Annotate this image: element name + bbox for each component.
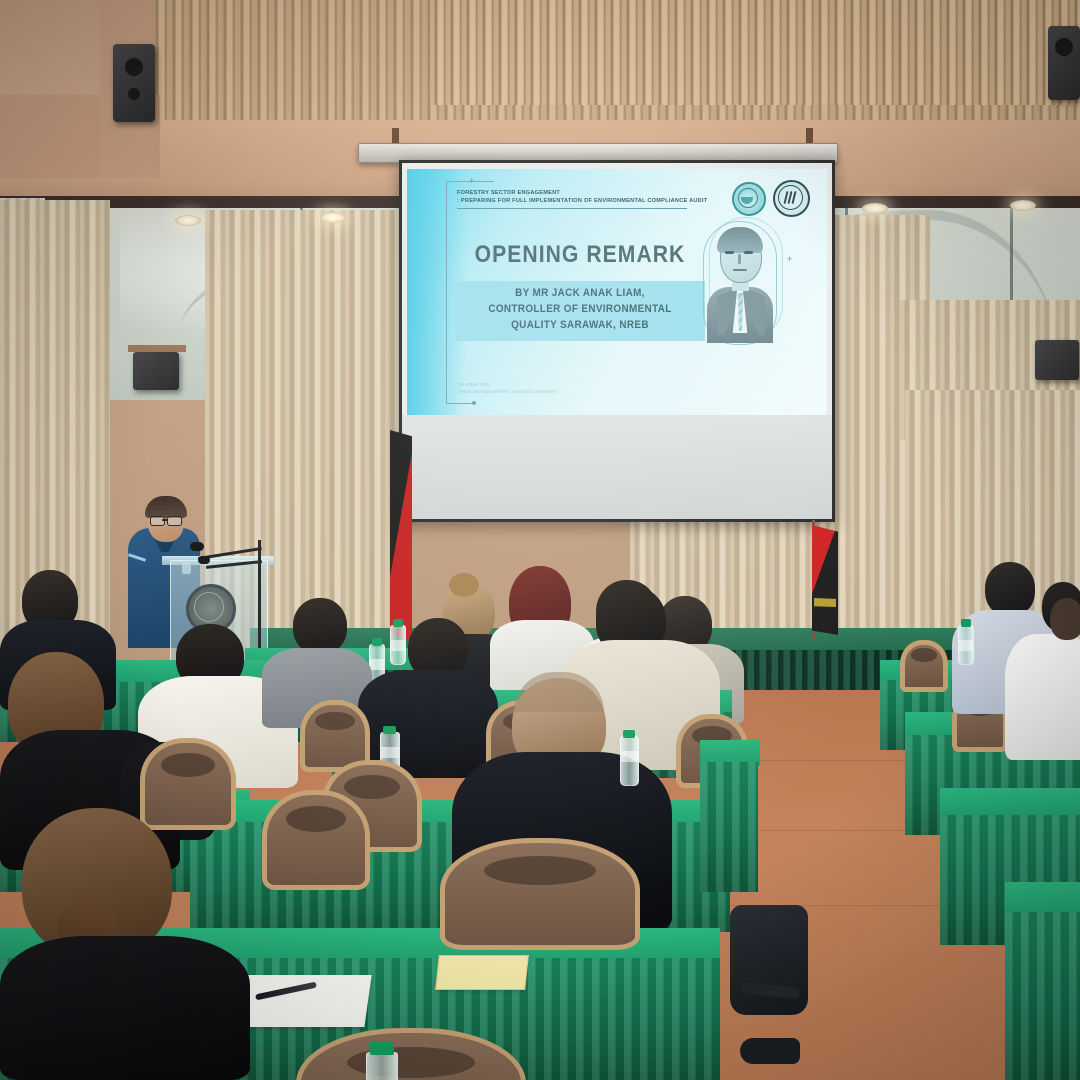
slide-subtitle-line-1: BY MR JACK ANAK LIAM, — [468, 285, 693, 301]
slide-kicker-line-2: : PREPARING FOR FULL IMPLEMENTATION OF E… — [457, 197, 747, 205]
presentation-slide: + + FORESTRY SECTOR ENGAGEMENT : PREPARI… — [407, 169, 827, 415]
mineral-water-bottle[interactable] — [366, 1052, 398, 1080]
table-skirt-aisle-left — [700, 762, 758, 892]
black-backpack[interactable] — [730, 905, 808, 1015]
slide-plus-marker-right: + — [787, 255, 792, 264]
slide-plus-marker: + — [469, 177, 474, 186]
slide-title: OPENING REMARK — [470, 241, 690, 269]
slide-kicker-underline — [457, 208, 687, 209]
slide-bracket-vertical — [446, 181, 447, 403]
gooseneck-microphone-secondary — [198, 556, 210, 564]
slide-dot-marker-bottom — [472, 401, 476, 405]
eyeglasses-icon — [167, 516, 182, 526]
nreb-circular-logo-icon — [732, 182, 766, 216]
conference-hall-photo: + + FORESTRY SECTOR ENGAGEMENT : PREPARI… — [0, 0, 1080, 1080]
table-skirt-right-front — [1005, 912, 1080, 1080]
yellow-notepad[interactable] — [435, 955, 529, 990]
eyeglasses-icon — [150, 516, 165, 526]
slide-kicker-line-1: FORESTRY SECTOR ENGAGEMENT — [457, 189, 747, 197]
banquet-chair[interactable] — [140, 738, 236, 830]
recessed-spotlight — [1010, 200, 1036, 211]
slide-subtitle: BY MR JACK ANAK LIAM, CONTROLLER OF ENVI… — [468, 285, 693, 333]
wooden-slat-ceiling-panel-upper — [430, 0, 1080, 105]
dress-shoe — [740, 1038, 800, 1064]
slide-kicker-text: FORESTRY SECTOR ENGAGEMENT : PREPARING F… — [457, 189, 747, 205]
mineral-water-bottle[interactable] — [958, 625, 974, 665]
screen-blank-area — [402, 415, 832, 522]
speaker-bracket — [128, 345, 186, 352]
wall-mounted-loudspeaker-lower-left — [133, 352, 179, 390]
banquet-chair-foreground[interactable] — [296, 1028, 526, 1080]
wall-mounted-loudspeaker — [113, 44, 155, 122]
gooseneck-microphone — [190, 542, 204, 551]
recessed-spotlight — [320, 212, 346, 223]
banquet-chair[interactable] — [262, 790, 370, 890]
recessed-spotlight — [175, 215, 201, 226]
slide-subtitle-line-3: QUALITY SARAWAK, NREB — [468, 317, 693, 333]
wall-mounted-loudspeaker-right — [1048, 26, 1080, 100]
mineral-water-bottle[interactable] — [620, 736, 639, 786]
speaker-portrait-illustration — [703, 221, 777, 345]
sarawak-flag-left — [390, 430, 412, 640]
sarawak-flag — [812, 525, 838, 635]
recessed-spotlight — [862, 203, 888, 214]
slide-footer-line-2: NREB HEADQUARTERS, KUCHING SARAWAK — [459, 388, 649, 395]
eyeglasses-bridge — [162, 519, 168, 521]
banquet-chair[interactable] — [900, 640, 948, 692]
slide-subtitle-line-2: CONTROLLER OF ENVIRONMENTAL — [468, 301, 693, 317]
agency-circular-logo-icon — [773, 180, 810, 217]
pull-down-projection-screen: + + FORESTRY SECTOR ENGAGEMENT : PREPARI… — [399, 160, 835, 522]
mineral-water-bottle[interactable] — [390, 625, 406, 665]
banquet-chair[interactable] — [440, 838, 640, 950]
slide-footer-line-1: 22 APRIL 2025 — [459, 381, 649, 388]
flag-yellow-band — [814, 598, 836, 607]
slide-footer: 22 APRIL 2025 NREB HEADQUARTERS, KUCHING… — [459, 381, 649, 395]
wall-mounted-loudspeaker-lower-right — [1035, 340, 1079, 380]
state-crest-inner-ring — [194, 592, 224, 622]
